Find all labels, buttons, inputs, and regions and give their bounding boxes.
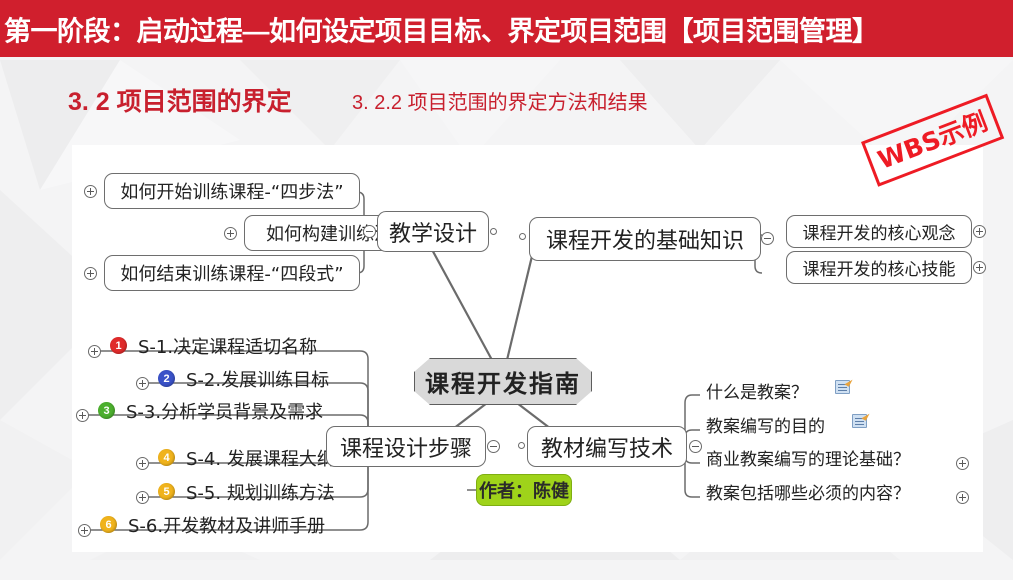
expand-toggle-icon[interactable] bbox=[84, 267, 97, 280]
node-label: 课程开发的核心观念 bbox=[803, 219, 956, 244]
branch-anchor-icon[interactable] bbox=[518, 442, 525, 449]
node-label: 如何开始训练课程-“四步法” bbox=[120, 178, 343, 204]
step-number: 4 bbox=[163, 452, 169, 464]
expand-toggle-icon[interactable] bbox=[956, 491, 969, 504]
collapse-toggle-icon[interactable] bbox=[363, 225, 376, 238]
step-number: 6 bbox=[105, 519, 111, 531]
node-label: 什么是教案？ bbox=[706, 378, 808, 403]
section-number-title: 3. 2 项目范围的界定 bbox=[68, 82, 292, 118]
step-badge-4: 4 bbox=[158, 449, 175, 466]
node-purpose-of-lesson-plan[interactable]: 教案编写的目的 bbox=[706, 411, 926, 437]
expand-toggle-icon[interactable] bbox=[78, 524, 91, 537]
node-required-content[interactable]: 教案包括哪些必须的内容？ bbox=[706, 478, 972, 504]
expand-toggle-icon[interactable] bbox=[136, 491, 149, 504]
node-how-to-end-training[interactable]: 如何结束训练课程-“四段式” bbox=[104, 255, 360, 291]
step-badge-2: 2 bbox=[158, 370, 175, 387]
node-course-design-steps[interactable]: 课程设计步骤 bbox=[326, 426, 486, 467]
node-label: 如何结束训练课程-“四段式” bbox=[120, 260, 343, 286]
step-badge-3: 3 bbox=[98, 402, 115, 419]
expand-toggle-icon[interactable] bbox=[136, 457, 149, 470]
node-label: 课程开发指南 bbox=[425, 364, 581, 399]
node-label: S-1.决定课程适切名称 bbox=[138, 333, 317, 359]
node-course-dev-basics[interactable]: 课程开发的基础知识 bbox=[529, 217, 761, 261]
expand-toggle-icon[interactable] bbox=[973, 261, 986, 274]
node-label: S-3.分析学员背景及需求 bbox=[126, 398, 323, 424]
collapse-toggle-icon[interactable] bbox=[761, 232, 774, 245]
node-label: S-2.发展训练目标 bbox=[186, 366, 329, 392]
step-badge-1: 1 bbox=[110, 337, 127, 354]
node-s1[interactable]: S-1.决定课程适切名称 bbox=[114, 333, 364, 359]
node-s5[interactable]: S-5. 规划训练方法 bbox=[162, 479, 374, 505]
node-label: S-5. 规划训练方法 bbox=[186, 479, 335, 505]
memo-note-icon[interactable] bbox=[835, 380, 850, 394]
node-label: 教案编写的目的 bbox=[706, 412, 825, 437]
node-material-writing-tech[interactable]: 教材编写技术 bbox=[527, 426, 687, 467]
node-label: 商业教案编写的理论基础？ bbox=[706, 445, 910, 470]
node-label: 课程开发的基础知识 bbox=[546, 223, 744, 255]
subsection-title: 3. 2.2 项目范围的界定方法和结果 bbox=[352, 86, 648, 115]
node-core-skills[interactable]: 课程开发的核心技能 bbox=[786, 251, 972, 284]
node-commercial-theory-basis[interactable]: 商业教案编写的理论基础？ bbox=[706, 444, 972, 470]
node-author[interactable]: 作者：陈健 bbox=[476, 474, 572, 506]
node-s6[interactable]: S-6.开发教材及讲师手册 bbox=[104, 512, 372, 538]
node-how-to-start-training[interactable]: 如何开始训练课程-“四步法” bbox=[104, 173, 360, 209]
step-number: 1 bbox=[115, 340, 121, 352]
node-label: S-6.开发教材及讲师手册 bbox=[128, 512, 325, 538]
expand-toggle-icon[interactable] bbox=[76, 409, 89, 422]
node-label: 课程设计步骤 bbox=[340, 431, 472, 463]
memo-note-icon[interactable] bbox=[852, 414, 867, 428]
step-badge-5: 5 bbox=[158, 483, 175, 500]
expand-toggle-icon[interactable] bbox=[84, 185, 97, 198]
node-s2[interactable]: S-2.发展训练目标 bbox=[162, 366, 372, 392]
slide-title-bar: 第一阶段：启动过程—如何设定项目目标、界定项目范围【项目范围管理】 bbox=[0, 0, 1013, 57]
node-label: 课程开发的核心技能 bbox=[803, 255, 956, 280]
author-label: 作者：陈健 bbox=[479, 477, 569, 503]
node-teaching-design[interactable]: 教学设计 bbox=[377, 211, 489, 252]
collapse-toggle-icon[interactable] bbox=[487, 440, 500, 453]
step-number: 2 bbox=[163, 373, 169, 385]
expand-toggle-icon[interactable] bbox=[973, 225, 986, 238]
branch-anchor-icon[interactable] bbox=[490, 228, 497, 235]
step-number: 3 bbox=[103, 405, 109, 417]
expand-toggle-icon[interactable] bbox=[224, 227, 237, 240]
step-badge-6: 6 bbox=[100, 516, 117, 533]
section-heading-row: 3. 2 项目范围的界定 3. 2.2 项目范围的界定方法和结果 bbox=[0, 78, 1013, 122]
expand-toggle-icon[interactable] bbox=[136, 377, 149, 390]
node-label: S-4. 发展课程大纲 bbox=[186, 445, 335, 471]
branch-anchor-icon[interactable] bbox=[519, 233, 526, 240]
slide-title: 第一阶段：启动过程—如何设定项目目标、界定项目范围【项目范围管理】 bbox=[4, 9, 879, 48]
node-label: 教材编写技术 bbox=[541, 431, 673, 463]
expand-toggle-icon[interactable] bbox=[88, 345, 101, 358]
node-s3[interactable]: S-3.分析学员背景及需求 bbox=[102, 398, 368, 424]
node-label: 教案包括哪些必须的内容？ bbox=[706, 479, 910, 504]
mindmap-panel: 如何开始训练课程-“四步法” 如何构建训练流程 如何结束训练课程-“四段式” 教… bbox=[72, 145, 983, 552]
node-label: 教学设计 bbox=[389, 216, 477, 248]
node-center-course-dev-guide[interactable]: 课程开发指南 bbox=[414, 358, 592, 405]
collapse-toggle-icon[interactable] bbox=[689, 440, 702, 453]
step-number: 5 bbox=[163, 486, 169, 498]
node-what-is-lesson-plan[interactable]: 什么是教案？ bbox=[706, 377, 926, 403]
expand-toggle-icon[interactable] bbox=[956, 457, 969, 470]
node-core-concepts[interactable]: 课程开发的核心观念 bbox=[786, 215, 972, 248]
